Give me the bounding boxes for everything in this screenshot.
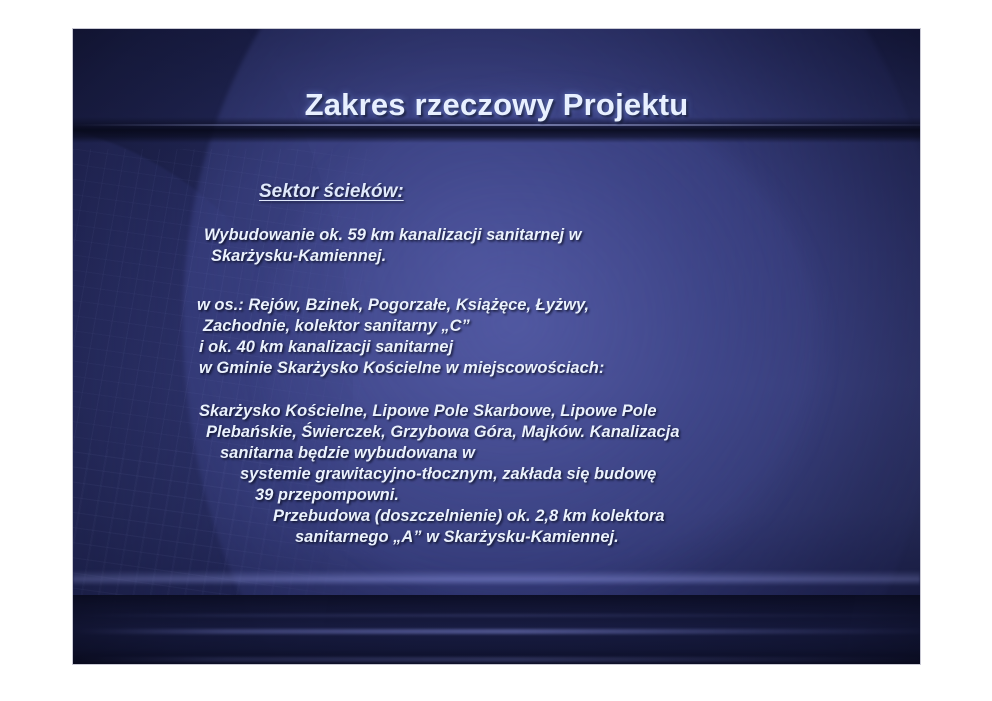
slide-body: Wybudowanie ok. 59 km kanalizacji sanita… (73, 225, 920, 548)
body-paragraph-2: w os.: Rejów, Bzinek, Pogorzałe, Książęc… (73, 295, 920, 379)
body-line: Skarżysko Kościelne, Lipowe Pole Skarbow… (73, 401, 920, 422)
slide-subtitle: Sektor ścieków: (259, 181, 404, 203)
body-line: 39 przepompowni. (73, 485, 920, 506)
body-line: Skarżysku-Kamiennej. (73, 246, 920, 267)
body-line: sanitarnego „A” w Skarżysku-Kamiennej. (73, 527, 920, 548)
body-paragraph-1: Wybudowanie ok. 59 km kanalizacji sanita… (73, 225, 920, 267)
body-line: Wybudowanie ok. 59 km kanalizacji sanita… (73, 225, 920, 246)
body-line: Przebudowa (doszczelnienie) ok. 2,8 km k… (73, 506, 920, 527)
slide-content: Zakres rzeczowy Projektu Sektor ścieków:… (73, 29, 920, 664)
body-line: w os.: Rejów, Bzinek, Pogorzałe, Książęc… (73, 295, 920, 316)
body-line: sanitarna będzie wybudowana w (73, 443, 920, 464)
body-line: Plebańskie, Świerczek, Grzybowa Góra, Ma… (73, 422, 920, 443)
paragraph-spacer (73, 267, 920, 295)
body-paragraph-3: Skarżysko Kościelne, Lipowe Pole Skarbow… (73, 401, 920, 548)
body-line: i ok. 40 km kanalizacji sanitarnej (73, 337, 920, 358)
presentation-slide: Zakres rzeczowy Projektu Sektor ścieków:… (72, 28, 921, 665)
body-line: systemie grawitacyjno-tłocznym, zakłada … (73, 464, 920, 485)
body-line: w Gminie Skarżysko Kościelne w miejscowo… (73, 358, 920, 379)
slide-title: Zakres rzeczowy Projektu (73, 87, 920, 123)
body-line: Zachodnie, kolektor sanitarny „C” (73, 316, 920, 337)
paragraph-spacer (73, 379, 920, 401)
